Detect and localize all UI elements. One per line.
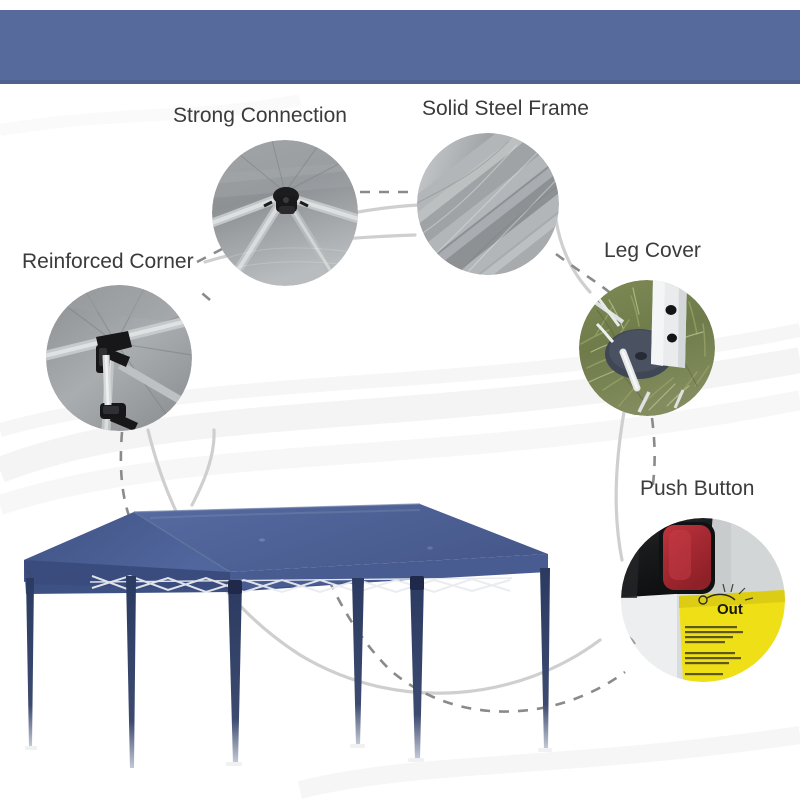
arc-frame-to-legcover xyxy=(556,220,590,292)
sticker-heading-text: Out xyxy=(717,601,743,618)
arc-product-to-corner xyxy=(192,430,214,505)
detail-circle-reinforced-corner[interactable] xyxy=(46,285,192,431)
callout-label-push-button: Push Button xyxy=(640,478,754,499)
dash-reinforced-label-leader xyxy=(197,248,224,262)
header-banner: PRODUCT DETAILS xyxy=(0,10,800,84)
detail-circle-solid-steel-frame[interactable] xyxy=(417,133,559,275)
steel-tube-closeup-photo xyxy=(417,133,559,275)
arc-top-pair xyxy=(352,205,418,213)
page-title: PRODUCT DETAILS xyxy=(228,27,571,67)
detail-circle-leg-cover[interactable] xyxy=(579,280,715,416)
callout-label-solid-steel-frame: Solid Steel Frame xyxy=(422,98,589,119)
leg-cover-on-grass-photo xyxy=(579,280,715,416)
callout-label-strong-connection: Strong Connection xyxy=(173,105,347,126)
dash-product-to-button xyxy=(300,510,625,712)
corner-bracket-photo xyxy=(46,285,192,431)
detail-circle-push-button[interactable]: Out xyxy=(621,518,785,682)
arc-legcover-to-button xyxy=(616,412,624,560)
callout-label-reinforced-corner: Reinforced Corner xyxy=(22,251,194,272)
canopy-center-hub-photo xyxy=(212,140,358,286)
product-details-infographic: PRODUCT DETAILS Strong Connection xyxy=(0,0,800,800)
product-image-gazebo xyxy=(0,498,600,768)
arc-corner-to-product xyxy=(148,430,600,693)
red-push-button-photo: Out xyxy=(621,518,785,682)
callout-label-leg-cover: Leg Cover xyxy=(604,240,701,261)
detail-circle-strong-connection[interactable] xyxy=(212,140,358,286)
dash-corner-to-product xyxy=(121,432,132,524)
dash-strong-to-corner xyxy=(196,288,210,300)
